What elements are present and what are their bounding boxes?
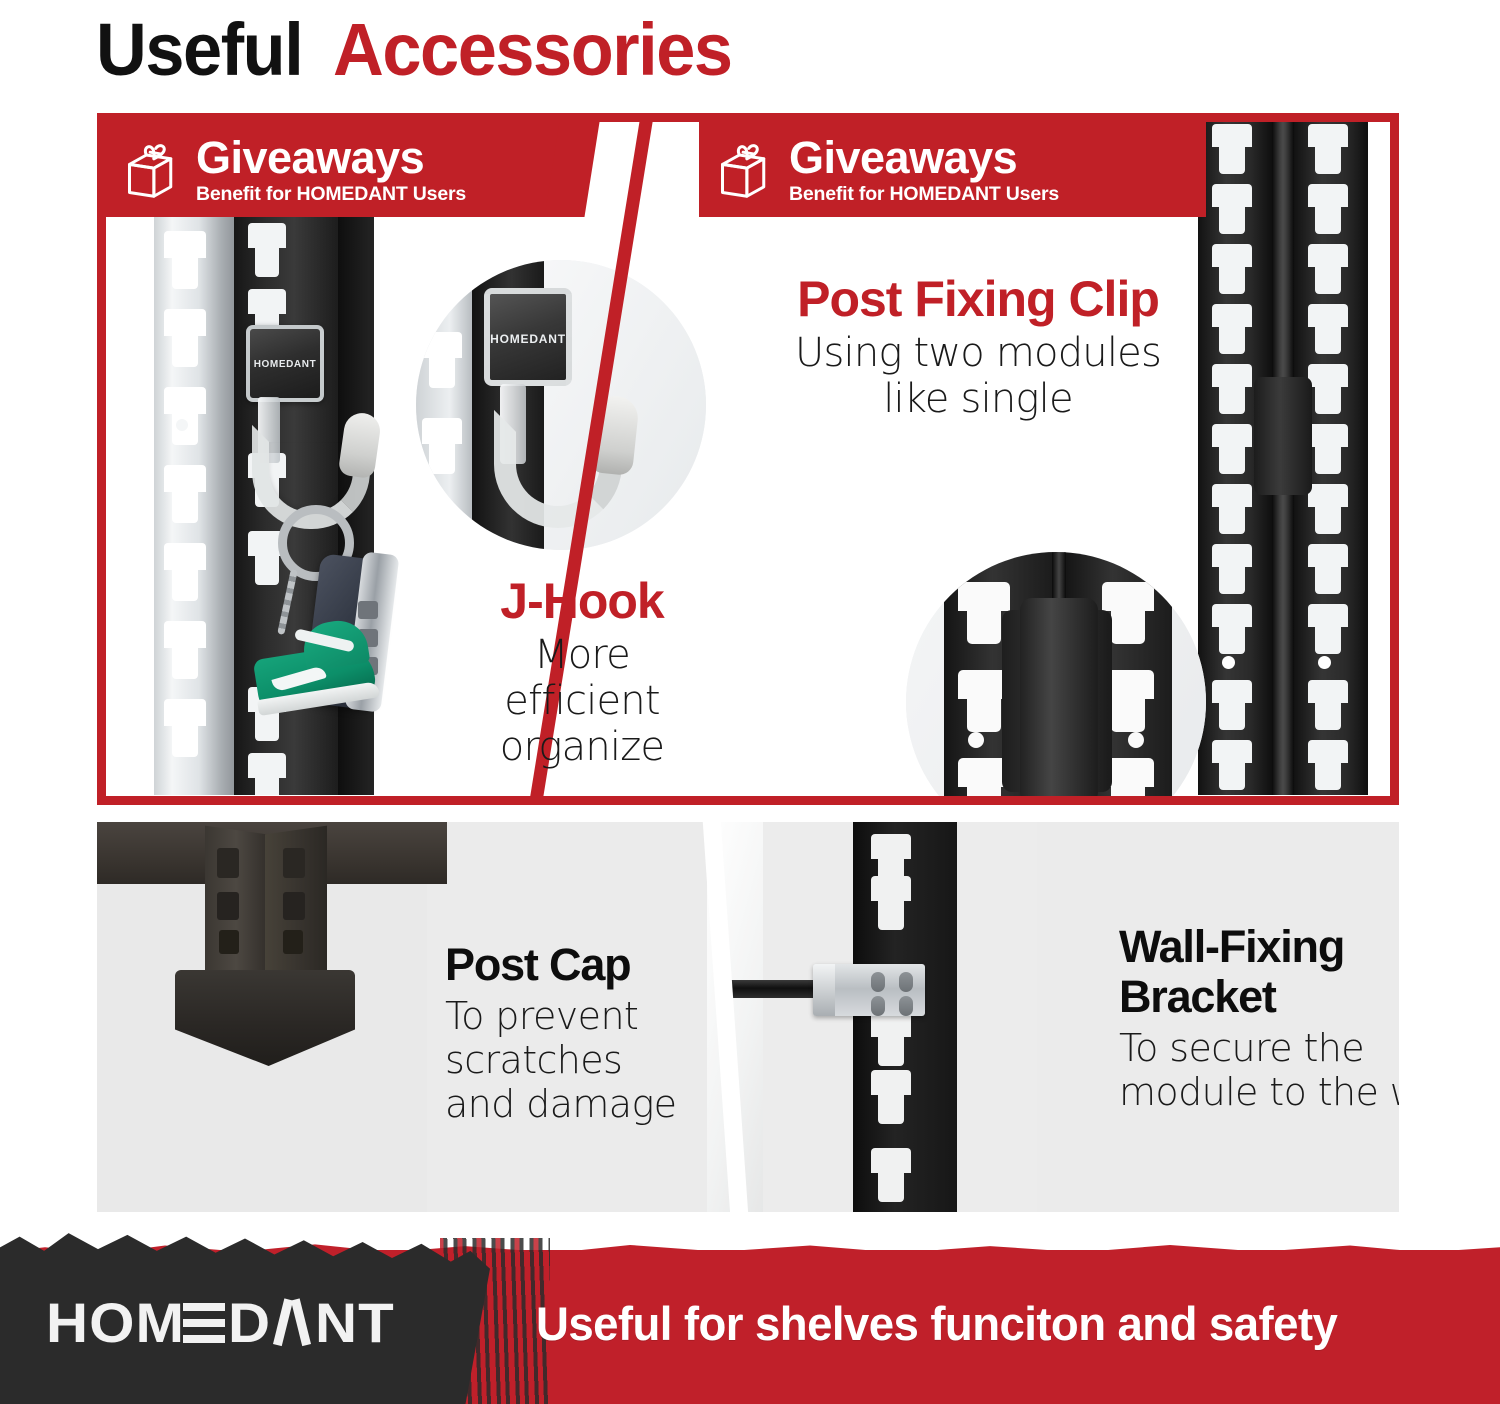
slot <box>1308 680 1348 730</box>
slot <box>1212 304 1252 354</box>
slot <box>1308 740 1348 790</box>
slot <box>164 309 206 367</box>
giveaways-banner-right: Giveaways Benefit for HOMEDANT Users <box>699 122 1206 217</box>
slot <box>164 543 206 601</box>
slot <box>164 387 206 445</box>
page-title-word-accessories: Accessories <box>333 12 732 88</box>
slot <box>1212 544 1252 594</box>
slot <box>217 848 239 878</box>
post-fixing-clip-heading: Post Fixing Clip <box>746 272 1210 326</box>
slot <box>871 876 911 930</box>
infographic-page: Useful Accessories <box>0 0 1500 1404</box>
hook-brand-label: HOMEDANT <box>250 359 320 370</box>
bracket-slot <box>871 996 885 1016</box>
top-feature-frame: HOMEDANT <box>97 113 1399 805</box>
logo-stylized-a-icon <box>270 1302 314 1344</box>
post-cap-photo <box>97 822 427 1212</box>
slot <box>1212 364 1252 414</box>
bottom-feature-band: Post Cap To prevent scratches and damage… <box>97 822 1399 1212</box>
j-hook-cap-closeup: HOMEDANT <box>484 288 572 386</box>
wall-bracket-desc-line1: To secure the <box>1119 1026 1399 1070</box>
j-hook-heading: J-Hook <box>458 574 706 628</box>
post-fixing-clip-closeup-inset <box>906 552 1206 796</box>
post-cap-text-block: Post Cap To prevent scratches and damage <box>445 940 775 1126</box>
post-fixing-clip-closeup <box>1020 598 1098 796</box>
bracket-slot <box>899 996 913 1016</box>
slot <box>1212 604 1252 654</box>
slot <box>1212 184 1252 234</box>
j-hook-desc-line2: organize <box>458 724 706 770</box>
slot <box>871 1012 911 1066</box>
post-fixing-clip-desc-line1: Using two modules <box>746 330 1210 376</box>
slot <box>283 848 305 878</box>
slot <box>283 892 305 920</box>
slot <box>422 418 462 474</box>
slot <box>1308 184 1348 234</box>
round-hole <box>1128 732 1144 748</box>
logo-part-d: D <box>228 1295 271 1351</box>
round-hole <box>1222 656 1235 669</box>
post-cap-heading: Post Cap <box>445 940 775 990</box>
gift-box-icon <box>122 139 182 201</box>
bracket-slot <box>899 972 913 992</box>
slot <box>164 231 206 289</box>
slot <box>164 621 206 679</box>
post-fixing-clip-photo <box>1184 122 1390 795</box>
slot <box>1308 304 1348 354</box>
slot <box>871 1148 911 1202</box>
round-hole <box>176 419 188 431</box>
bracket-fold <box>813 964 835 1016</box>
wall-fixing-bracket-text-block: Wall-Fixing Bracket To secure the module… <box>1119 922 1399 1114</box>
footer-bar: HOM D NT Useful for shelves funciton and… <box>0 1212 1500 1404</box>
post-cap-desc-line2: scratches <box>445 1038 775 1082</box>
slot <box>1212 680 1252 730</box>
slot <box>1308 484 1348 534</box>
giveaways-title: Giveaways <box>196 134 466 182</box>
slot <box>1308 544 1348 594</box>
slot <box>1212 124 1252 174</box>
round-hole <box>1318 656 1331 669</box>
gift-box-icon <box>715 139 775 201</box>
hook-brand-label-closeup: HOMEDANT <box>490 332 566 346</box>
post-fixing-clip-desc-line2: like single <box>746 376 1210 422</box>
slot <box>164 699 206 757</box>
giveaways-banner-left: Giveaways Benefit for HOMEDANT Users <box>106 122 566 217</box>
slot <box>871 1070 911 1124</box>
slot <box>1212 484 1252 534</box>
j-hook-closeup-inset: HOMEDANT <box>416 260 706 550</box>
round-hole <box>968 732 984 748</box>
giveaways-subtitle: Benefit for HOMEDANT Users <box>789 184 1059 205</box>
giveaways-title: Giveaways <box>789 134 1059 182</box>
slot <box>1308 424 1348 474</box>
slot <box>283 930 303 954</box>
page-title-word-useful: Useful <box>96 12 302 88</box>
giveaways-subtitle: Benefit for HOMEDANT Users <box>196 184 466 205</box>
slot <box>1308 244 1348 294</box>
post-cap-desc-line3: and damage <box>445 1082 775 1126</box>
wall-bracket-heading-line2: Bracket <box>1119 972 1399 1022</box>
wall-bracket-heading-line1: Wall-Fixing <box>1119 922 1399 972</box>
footer-tagline: Useful for shelves funciton and safety <box>536 1298 1337 1350</box>
sneaker-charm <box>249 616 378 711</box>
slot <box>1212 424 1252 474</box>
slot <box>248 753 286 795</box>
slot <box>1308 604 1348 654</box>
post-cap-desc-line1: To prevent <box>445 994 775 1038</box>
post-fixing-clip <box>1254 377 1312 495</box>
homedant-logo: HOM D NT <box>46 1296 392 1350</box>
slot <box>1308 364 1348 414</box>
slot <box>248 223 286 277</box>
logo-part-hom: HOM <box>46 1295 185 1351</box>
slot <box>1212 740 1252 790</box>
j-hook-text-block: J-Hook More efficient organize <box>458 574 706 770</box>
logo-part-nt: NT <box>315 1295 395 1351</box>
j-hook-desc-line1: More efficient <box>458 632 706 724</box>
bracket-slot <box>871 972 885 992</box>
slot <box>219 930 239 954</box>
post-fixing-clip-text-block: Post Fixing Clip Using two modules like … <box>746 272 1210 422</box>
logo-stylized-e-icon <box>183 1303 225 1343</box>
post-cap-part <box>175 970 355 1066</box>
slot <box>217 892 239 920</box>
j-hook-cap: HOMEDANT <box>246 325 324 402</box>
slot <box>422 332 462 388</box>
slot <box>164 465 206 523</box>
slot <box>1308 124 1348 174</box>
wall-bracket-desc-line2: module to the wall <box>1119 1070 1399 1114</box>
page-title: Useful Accessories <box>96 2 753 88</box>
slot <box>1212 244 1252 294</box>
